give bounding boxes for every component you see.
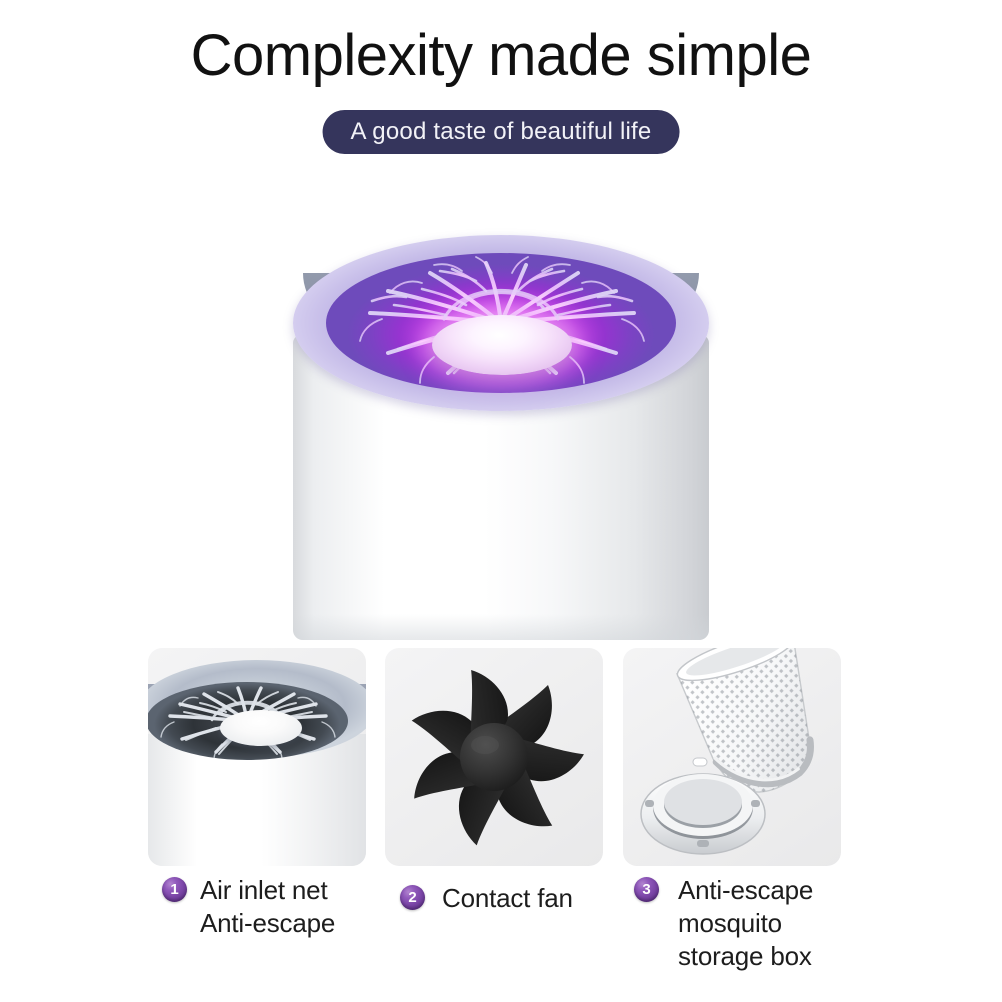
mosquito-lamp-illustration [293, 235, 709, 640]
feature-label-3-line-3: storage box [678, 940, 854, 973]
feature-label-1-line-1: Air inlet net [200, 874, 372, 907]
feature-number-badge-1: 1 [162, 877, 187, 902]
feature-label-2: 2 Contact fan [400, 882, 610, 915]
feature-label-3-line-1: Anti-escape [678, 874, 854, 907]
page-title: Complexity made simple [0, 22, 1002, 90]
feature-number-badge-3: 3 [634, 877, 659, 902]
air-inlet-led-puck [220, 710, 302, 746]
feature-card-contact-fan[interactable] [385, 648, 603, 866]
feature-label-3-line-2: mosquito [678, 907, 854, 940]
fan-icon [401, 664, 587, 850]
feature-card-storage-box[interactable] [623, 648, 841, 866]
feature-label-3: 3 Anti-escape mosquito storage box [634, 874, 854, 973]
lamp-led-puck [432, 315, 572, 375]
feature-card-air-inlet-net[interactable] [148, 648, 366, 866]
feature-label-row: 1 Air inlet net Anti-escape 2 Contact fa… [148, 874, 908, 994]
storage-box-icon [623, 648, 841, 866]
feature-label-1: 1 Air inlet net Anti-escape [162, 874, 372, 940]
feature-label-2-line-1: Contact fan [442, 882, 610, 915]
feature-card-row [148, 648, 856, 866]
feature-number-badge-2: 2 [400, 885, 425, 910]
fan-illustration [401, 664, 587, 850]
subtitle-badge: A good taste of beautiful life [323, 110, 680, 154]
feature-label-1-line-2: Anti-escape [200, 907, 372, 940]
hero-product-image [0, 180, 1002, 650]
infographic-page: Complexity made simple A good taste of b… [0, 0, 1002, 1002]
